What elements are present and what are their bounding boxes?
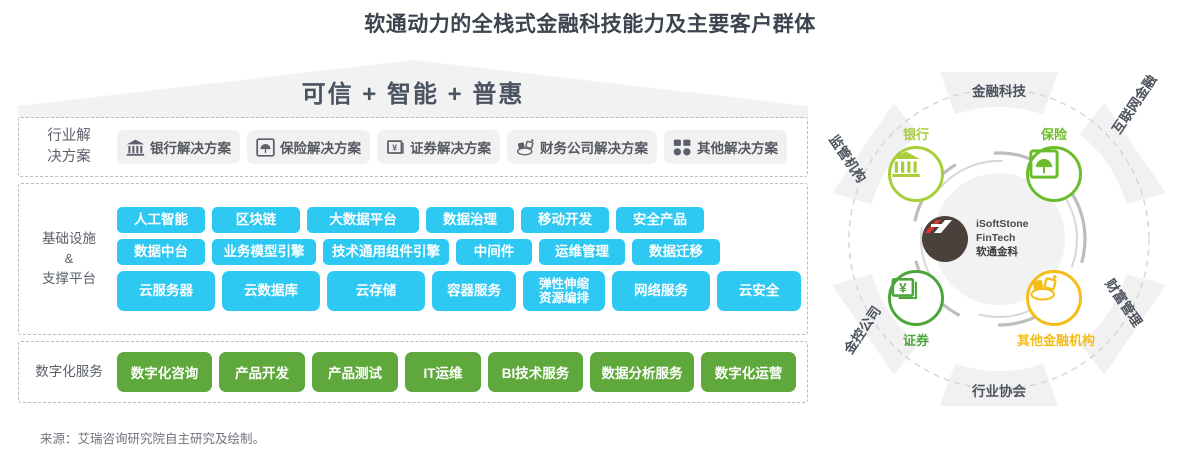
section-label-infra-line1: 基础设施 — [42, 231, 96, 246]
ecosystem-node-insurance-label: 保险 — [1020, 124, 1088, 143]
bank-icon — [126, 138, 145, 157]
capability-data-midend[interactable]: 数据中台 — [117, 239, 205, 265]
section-label-industry: 行业解 决方案 — [19, 126, 117, 168]
solution-card-bank-label: 银行解决方案 — [150, 137, 231, 157]
insurance-icon — [256, 138, 275, 157]
section-infrastructure-platform: 基础设施 & 支撑平台 人工智能 区块链 大数据平台 数据治理 移动开发 安全产… — [18, 183, 808, 335]
center-logo-line1: iSoftStone — [976, 218, 1029, 232]
capability-cloud-store[interactable]: 云存储 — [327, 271, 425, 311]
section-label-infra-amp: & — [21, 250, 117, 269]
ecosystem-node-securities[interactable]: ¥ — [888, 270, 944, 326]
coins-icon — [516, 138, 535, 157]
capability-container[interactable]: 容器服务 — [432, 271, 516, 311]
capability-blockchain[interactable]: 区块链 — [212, 207, 300, 233]
capability-stack-panel: 可信 + 智能 + 普惠 行业解 决方案 银行解决方案 — [18, 60, 808, 415]
banner-text: 可信 + 智能 + 普惠 — [18, 74, 808, 109]
section-industry-solutions: 行业解 决方案 银行解决方案 — [18, 117, 808, 177]
section-digital-services: 数字化服务 数字化咨询 产品开发 产品测试 IT运维 BI技术服务 数据分析服务… — [18, 341, 808, 403]
center-logo-text: iSoftStone FinTech 软通金科 — [976, 218, 1029, 260]
service-data-analysis[interactable]: 数据分析服务 — [590, 352, 694, 392]
ecosystem-label-industry-assoc: 行业协会 — [818, 380, 1180, 400]
section-label-infrastructure: 基础设施 & 支撑平台 — [19, 229, 117, 289]
service-consulting[interactable]: 数字化咨询 — [117, 352, 212, 392]
center-logo: iSoftStone FinTech 软通金科 — [922, 210, 1078, 268]
solution-card-other[interactable]: 其他解决方案 — [664, 130, 787, 164]
capability-cloud-sec[interactable]: 云安全 — [717, 271, 801, 311]
infra-row-3: 云服务器 云数据库 云存储 容器服务 弹性伸缩资源编排 网络服务 云安全 — [117, 271, 801, 311]
service-it-ops[interactable]: IT运维 — [405, 352, 481, 392]
capability-mobile-dev[interactable]: 移动开发 — [521, 207, 609, 233]
section-label-industry-line1: 行业解 — [47, 128, 91, 144]
center-logo-line2: FinTech — [976, 232, 1029, 246]
capability-middleware[interactable]: 中间件 — [456, 239, 532, 265]
service-digital-ops[interactable]: 数字化运营 — [701, 352, 796, 392]
service-product-test[interactable]: 产品测试 — [312, 352, 398, 392]
capability-security-prod[interactable]: 安全产品 — [616, 207, 704, 233]
section-label-industry-line2: 决方案 — [47, 149, 91, 165]
capability-component[interactable]: 技术通用组件引擎 — [323, 239, 449, 265]
ecosystem-node-bank-label: 银行 — [882, 124, 950, 143]
capability-bigdata[interactable]: 大数据平台 — [307, 207, 419, 233]
customer-ecosystem-diagram: 金融科技 互联网金融 财富管理 行业协会 金控公司 监管机构 银行 保险 — [818, 58, 1180, 420]
solution-card-finance-company[interactable]: 财务公司解决方案 — [507, 130, 657, 164]
capability-cloud-db[interactable]: 云数据库 — [222, 271, 320, 311]
capability-elastic-scale[interactable]: 弹性伸缩资源编排 — [523, 271, 605, 311]
infra-row-2: 数据中台 业务模型引擎 技术通用组件引擎 中间件 运维管理 数据迁移 — [117, 239, 801, 265]
solution-card-insurance-label: 保险解决方案 — [280, 137, 361, 157]
solution-card-securities[interactable]: ¥ 证券解决方案 — [377, 130, 500, 164]
solution-card-bank[interactable]: 银行解决方案 — [117, 130, 240, 164]
ecosystem-node-securities-label: 证券 — [882, 330, 950, 349]
infrastructure-rows: 人工智能 区块链 大数据平台 数据治理 移动开发 安全产品 数据中台 业务模型引… — [117, 207, 809, 311]
capability-data-migration[interactable]: 数据迁移 — [632, 239, 720, 265]
section-label-infra-line2: 支撑平台 — [42, 271, 96, 286]
capability-biz-model[interactable]: 业务模型引擎 — [212, 239, 316, 265]
ecosystem-node-other-label: 其他金融机构 — [1002, 330, 1110, 349]
center-logo-line3: 软通金科 — [976, 246, 1029, 260]
svg-text:¥: ¥ — [392, 142, 397, 152]
grid-dots-icon — [673, 138, 692, 157]
ecosystem-node-insurance[interactable] — [1026, 146, 1082, 202]
infra-row-1: 人工智能 区块链 大数据平台 数据治理 移动开发 安全产品 — [117, 207, 801, 233]
isoftstone-logo-icon — [922, 216, 968, 262]
capability-network[interactable]: 网络服务 — [612, 271, 710, 311]
solution-card-finance-company-label: 财务公司解决方案 — [540, 137, 648, 157]
solution-card-insurance[interactable]: 保险解决方案 — [247, 130, 370, 164]
capability-ops[interactable]: 运维管理 — [539, 239, 625, 265]
capability-ai[interactable]: 人工智能 — [117, 207, 205, 233]
capability-cloud-server[interactable]: 云服务器 — [117, 271, 215, 311]
svg-text:¥: ¥ — [899, 280, 907, 295]
solution-card-other-label: 其他解决方案 — [697, 137, 778, 157]
page-title: 软通动力的全栈式金融科技能力及主要客户群体 — [0, 8, 1180, 38]
capability-data-gov[interactable]: 数据治理 — [426, 207, 514, 233]
ecosystem-node-other[interactable] — [1026, 270, 1082, 326]
digital-services-row: 数字化咨询 产品开发 产品测试 IT运维 BI技术服务 数据分析服务 数字化运营 — [117, 352, 799, 392]
service-bi[interactable]: BI技术服务 — [488, 352, 583, 392]
ecosystem-node-bank[interactable] — [888, 146, 944, 202]
service-product-dev[interactable]: 产品开发 — [219, 352, 305, 392]
solution-card-securities-label: 证券解决方案 — [410, 137, 491, 157]
source-note: 来源：艾瑞咨询研究院自主研究及绘制。 — [40, 428, 265, 447]
section-label-digital: 数字化服务 — [19, 362, 117, 382]
securities-icon: ¥ — [386, 138, 405, 157]
